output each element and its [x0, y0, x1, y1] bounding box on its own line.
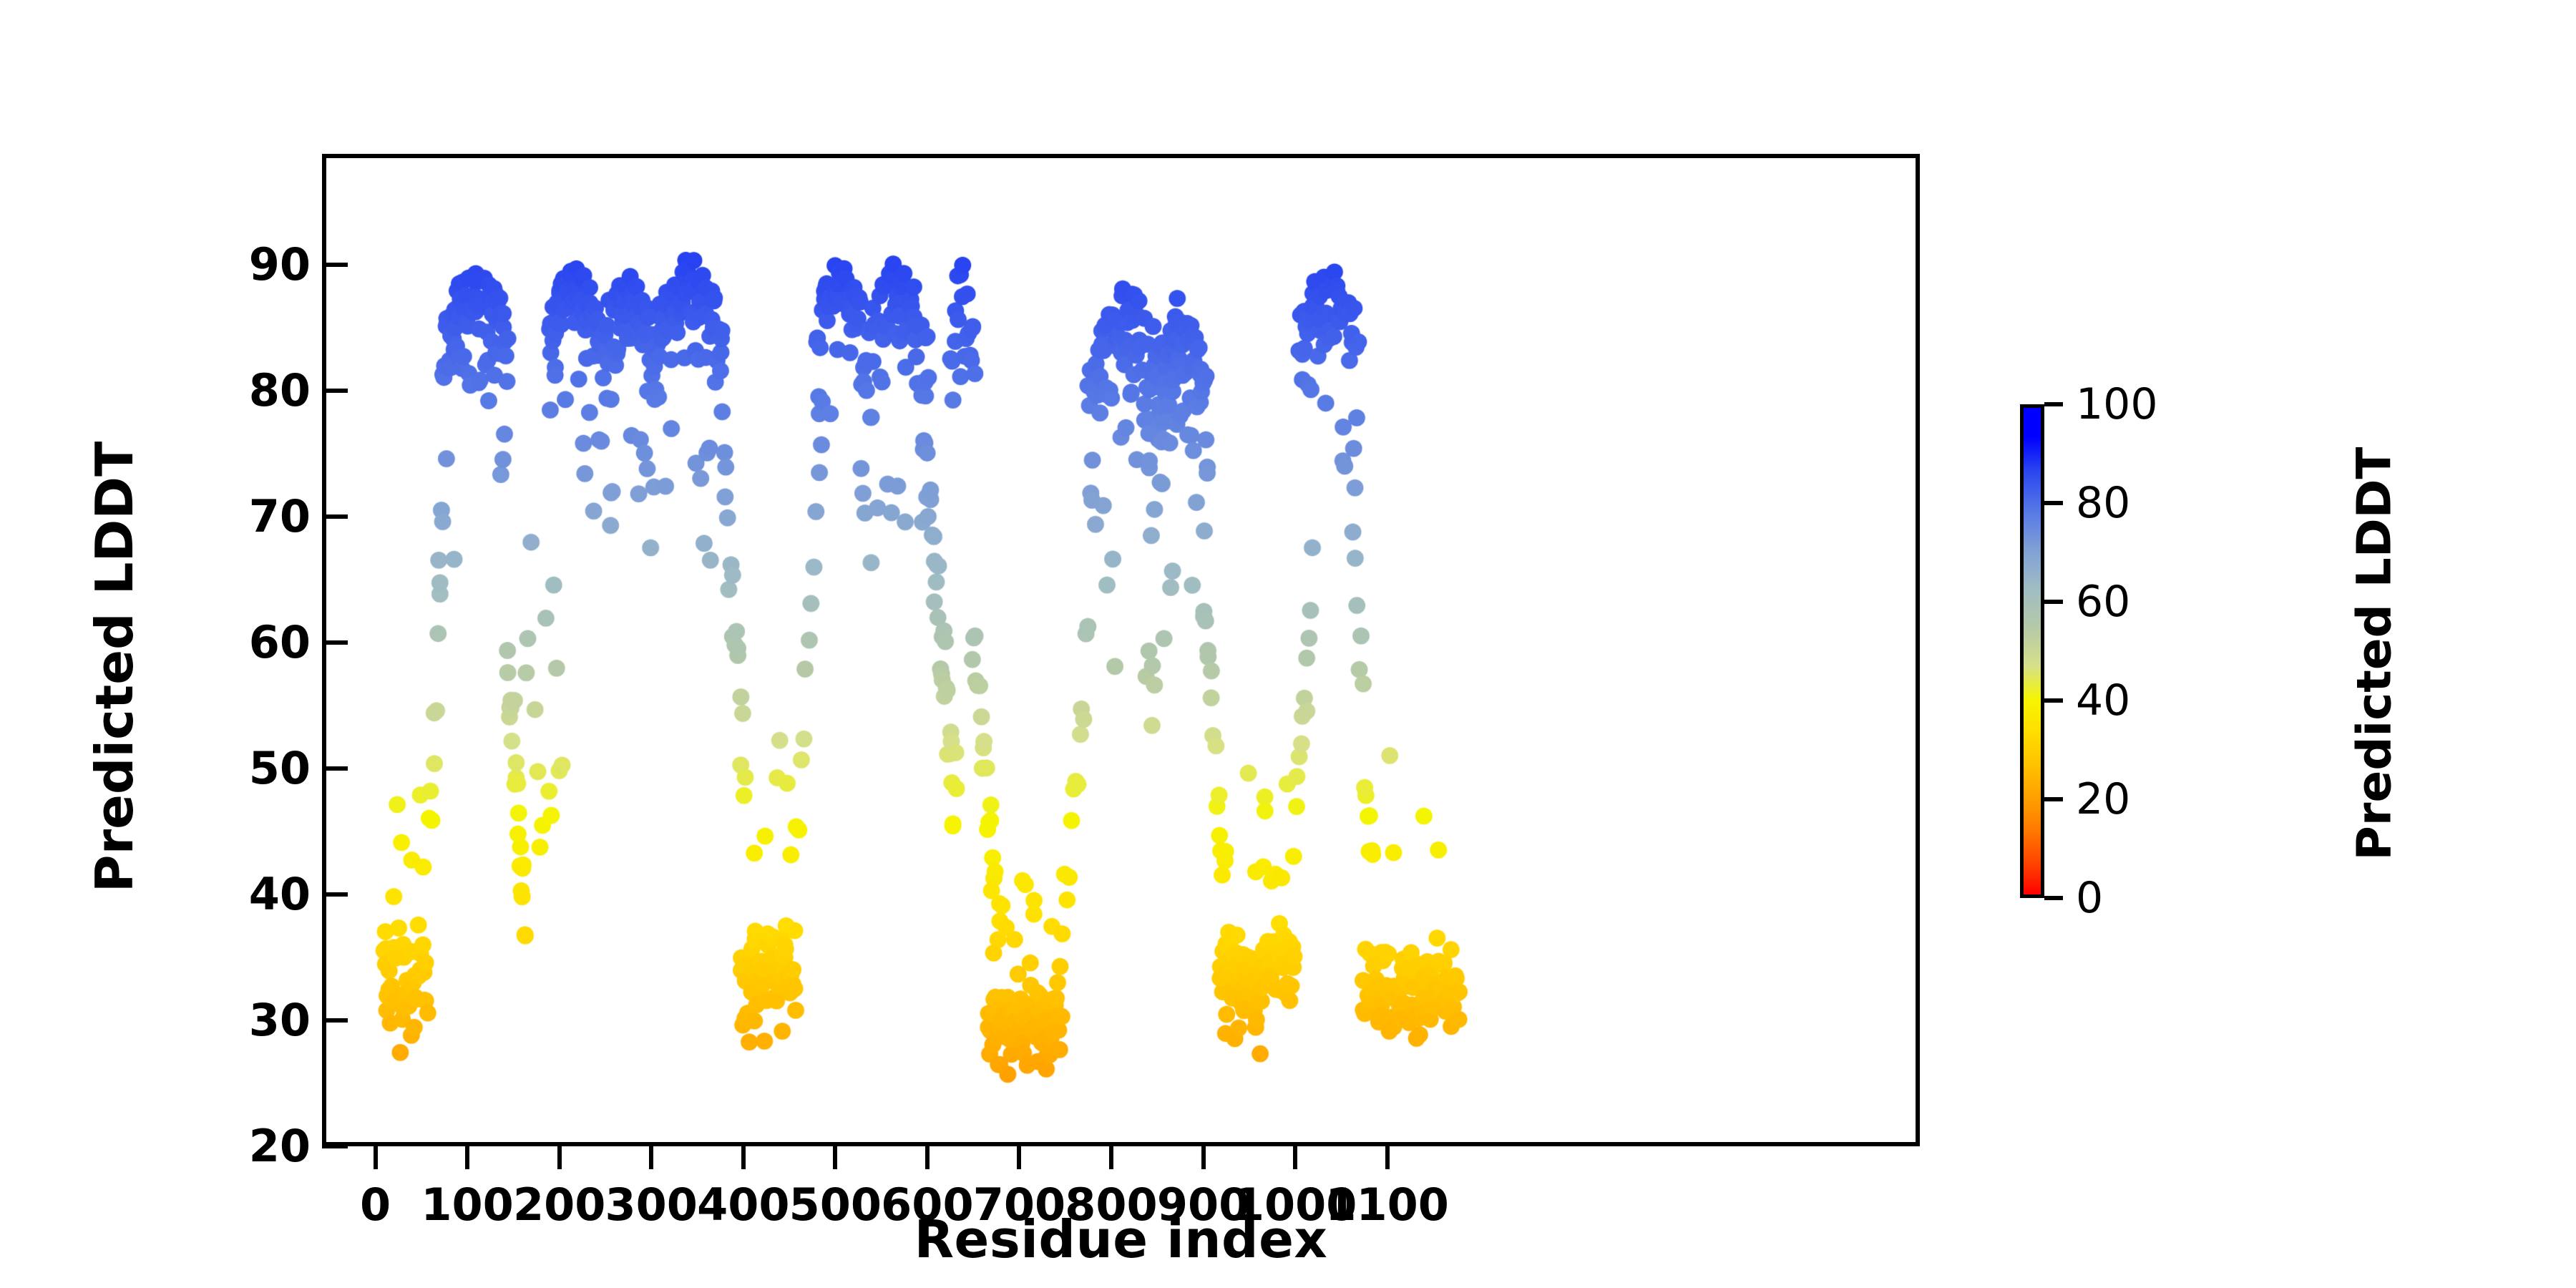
scatter-points-layer [326, 158, 1916, 1142]
x-tick-mark [1017, 1146, 1021, 1169]
colorbar-tick-label: 40 [2076, 672, 2262, 729]
colorbar-tick-label: 60 [2076, 573, 2262, 630]
y-axis-label: Predicted LDDT [84, 238, 145, 1096]
x-tick-mark [465, 1146, 469, 1169]
y-tick-mark [322, 389, 348, 393]
y-tick-mark [322, 263, 348, 267]
y-tick-mark [322, 1144, 348, 1148]
x-tick-mark [741, 1146, 746, 1169]
x-tick-mark [1385, 1146, 1390, 1169]
y-tick-mark [322, 1018, 348, 1023]
colorbar-tick-mark [2044, 501, 2063, 505]
colorbar-tick-label: 80 [2076, 474, 2262, 532]
colorbar-tick-label: 0 [2076, 869, 2262, 927]
x-tick-mark [925, 1146, 930, 1169]
colorbar-tick-mark [2044, 797, 2063, 801]
x-tick-mark [374, 1146, 378, 1169]
colorbar-tick-mark [2044, 600, 2063, 604]
y-tick-mark [322, 766, 348, 771]
colorbar-label: Predicted LDDT [2347, 225, 2402, 1083]
colorbar-tick-label: 100 [2076, 376, 2262, 433]
colorbar-gradient [2020, 404, 2044, 898]
y-tick-label: 20 [96, 1116, 311, 1176]
colorbar-tick-label: 20 [2076, 771, 2262, 828]
x-tick-mark [1109, 1146, 1113, 1169]
y-tick-mark [322, 514, 348, 519]
x-tick-mark [1201, 1146, 1206, 1169]
x-tick-mark [833, 1146, 837, 1169]
scatter-plot-axes [322, 154, 1920, 1146]
figure-canvas: 2030405060708090 01002003004005006007008… [0, 0, 2576, 1288]
x-axis-label: Residue index [322, 1209, 1920, 1269]
y-tick-mark [322, 640, 348, 645]
y-tick-mark [322, 892, 348, 897]
colorbar-tick-mark [2044, 402, 2063, 406]
x-tick-mark [1293, 1146, 1297, 1169]
colorbar-tick-mark [2044, 698, 2063, 703]
colorbar: 020406080100 [2020, 404, 2044, 898]
x-tick-mark [649, 1146, 653, 1169]
x-tick-mark [557, 1146, 562, 1169]
colorbar-tick-mark [2044, 896, 2063, 900]
